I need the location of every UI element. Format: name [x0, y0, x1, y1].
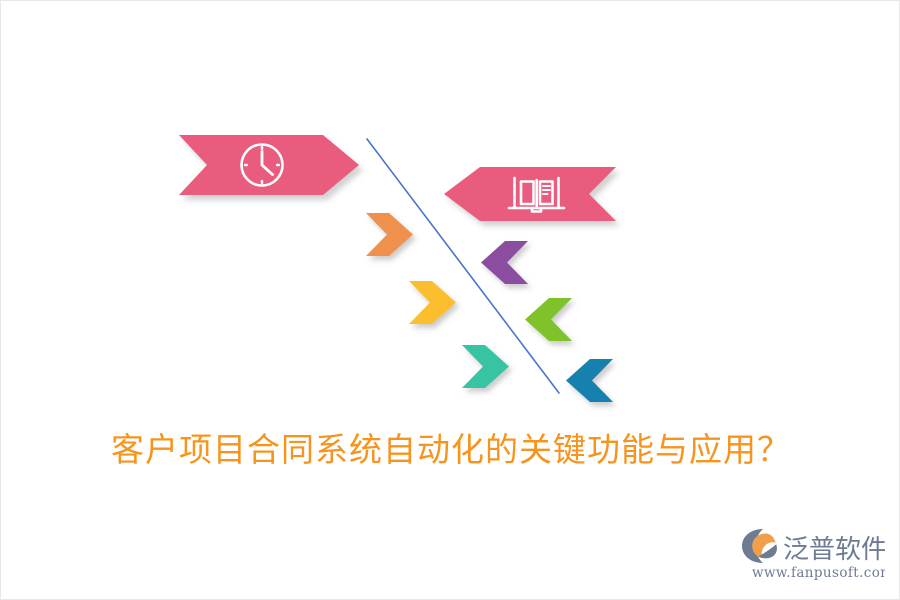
clock-banner: [179, 135, 359, 195]
chevron-orange: [366, 213, 413, 256]
chevron-green: [525, 298, 572, 341]
chevron-blue: [566, 359, 613, 402]
fanpu-logo-icon: [742, 529, 777, 563]
book-banner: [444, 167, 616, 221]
decorative-diagram: [1, 1, 900, 421]
chevron-yellow: [409, 281, 456, 324]
chevron-purple: [481, 241, 528, 284]
brand-watermark: 泛普软件 www.fanpusoft.com: [740, 525, 885, 583]
page-title: 客户项目合同系统自动化的关键功能与应用？: [1, 426, 900, 474]
brand-name: 泛普软件: [783, 535, 885, 565]
screenshot-canvas: 客户项目合同系统自动化的关键功能与应用？ 泛普软件 www.fanpusoft.…: [0, 0, 900, 600]
brand-url: www.fanpusoft.com: [752, 565, 885, 581]
chevron-teal: [462, 345, 509, 388]
